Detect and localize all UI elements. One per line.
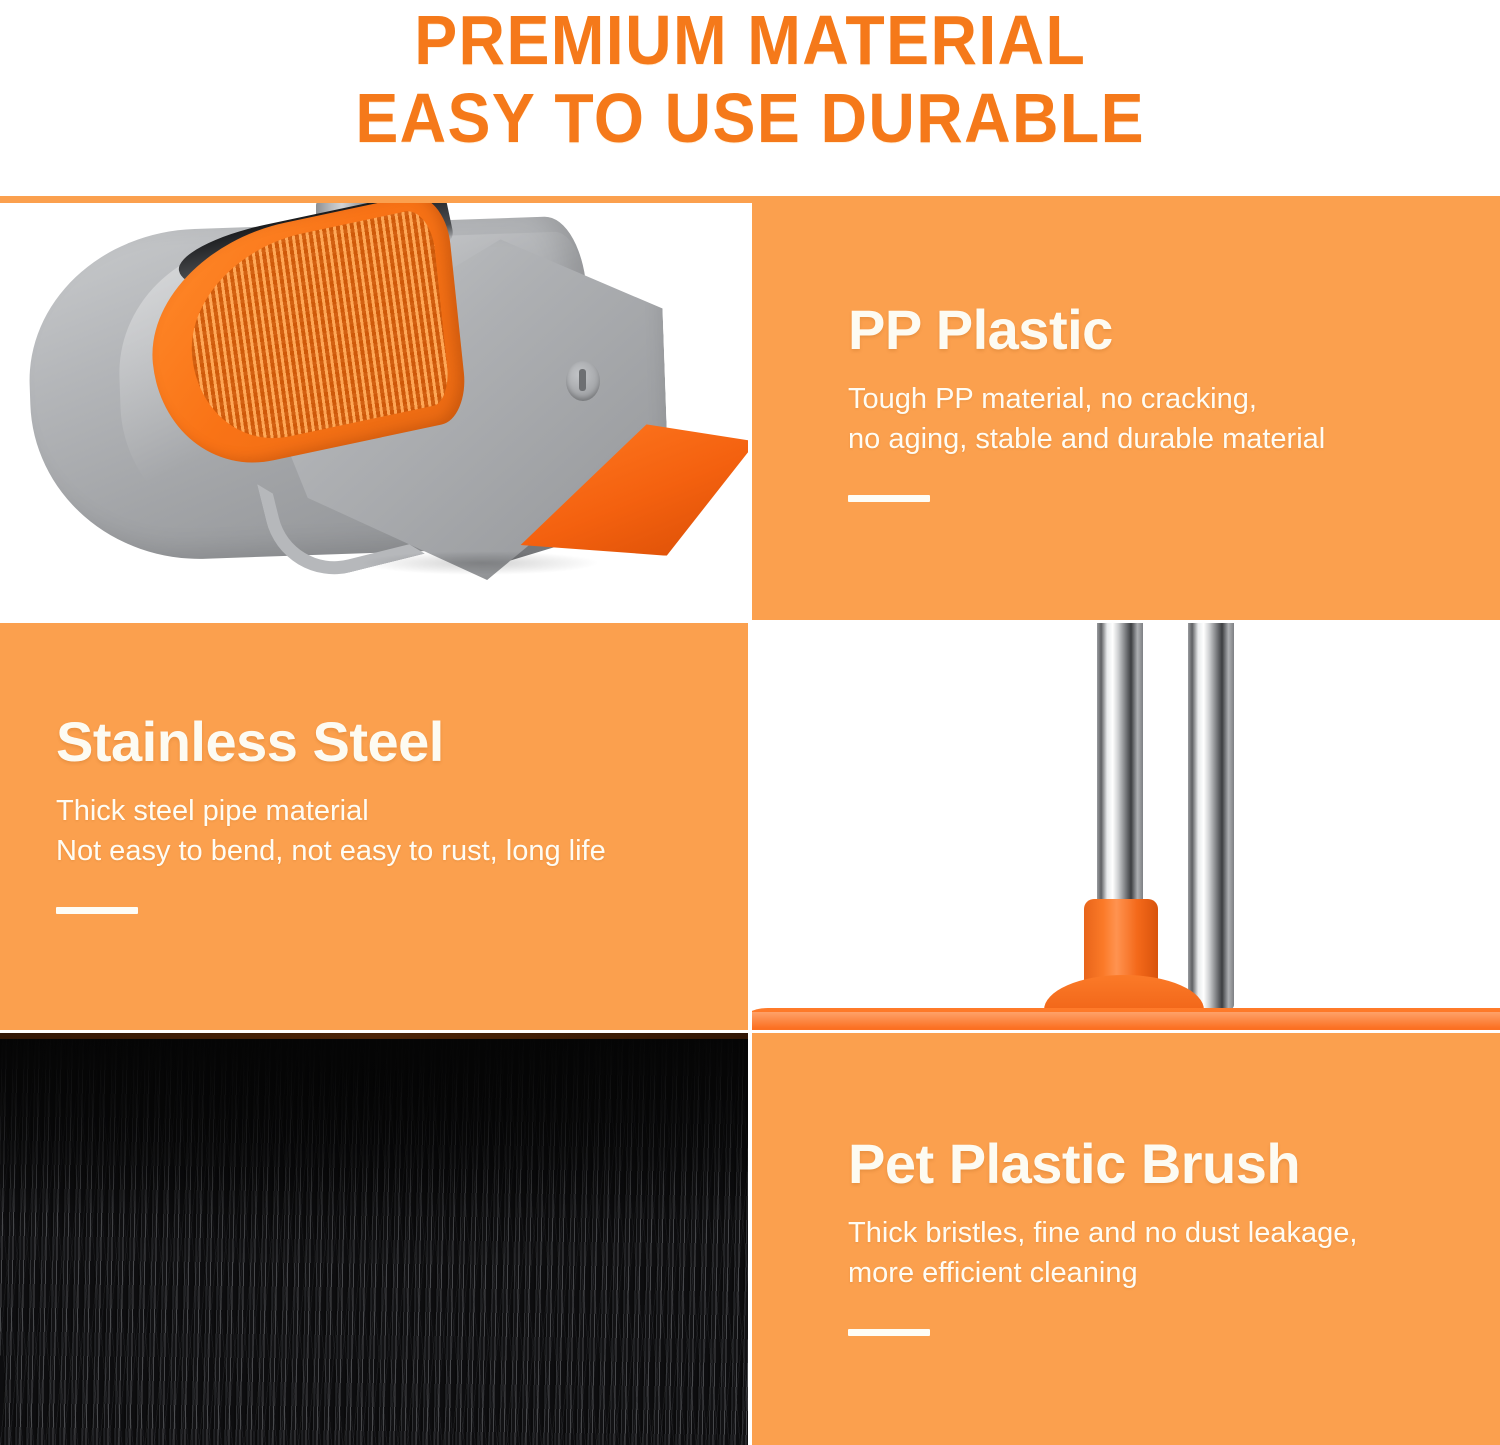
feature-grid: PP Plastic Tough PP material, no crackin… <box>0 203 1500 1442</box>
dustpan-latch-knob <box>566 361 600 401</box>
header-banner: PREMIUM MATERIAL EASY TO USE DURABLE <box>0 0 1500 197</box>
dustpan-drop-shadow <box>360 551 600 575</box>
stainless-steel-title: Stainless Steel <box>56 711 708 773</box>
stainless-steel-desc-line-2: Not easy to bend, not easy to rust, long… <box>56 831 708 871</box>
pp-plastic-title: PP Plastic <box>848 299 1460 361</box>
pet-plastic-brush-desc-line-2: more efficient cleaning <box>848 1253 1460 1293</box>
stainless-steel-panel: Stainless Steel Thick steel pipe materia… <box>0 623 748 1030</box>
bristles-top-tint <box>0 1033 748 1039</box>
header-title-line-2: EASY TO USE DURABLE <box>355 80 1145 156</box>
bristles-photo <box>0 1033 748 1445</box>
stainless-steel-description: Thick steel pipe material Not easy to be… <box>56 773 708 871</box>
dustpan-photo-cell <box>0 203 748 620</box>
pet-plastic-brush-desc-line-1: Thick bristles, fine and no dust leakage… <box>848 1213 1460 1253</box>
pp-plastic-desc-line-1: Tough PP material, no cracking, <box>848 379 1460 419</box>
bristles-photo-cell <box>0 1033 748 1445</box>
broom-head <box>752 1008 1500 1030</box>
pp-plastic-panel: PP Plastic Tough PP material, no crackin… <box>752 203 1500 620</box>
stainless-steel-desc-line-1: Thick steel pipe material <box>56 791 708 831</box>
dustpan-photo <box>0 203 748 620</box>
bristles-top-shadow <box>0 1033 748 1213</box>
pet-plastic-brush-panel: Pet Plastic Brush Thick bristles, fine a… <box>752 1033 1500 1445</box>
stainless-steel-content: Stainless Steel Thick steel pipe materia… <box>56 711 708 914</box>
steel-pole-left <box>1097 623 1143 905</box>
header-divider-rule <box>0 196 1500 203</box>
header-title-line-1: PREMIUM MATERIAL <box>414 2 1086 78</box>
pp-plastic-content: PP Plastic Tough PP material, no crackin… <box>848 299 1460 502</box>
stainless-steel-accent-dash <box>56 907 138 914</box>
pp-plastic-description: Tough PP material, no cracking, no aging… <box>848 361 1460 459</box>
broom-pole-photo-cell <box>752 623 1500 1030</box>
steel-pole-right <box>1188 623 1234 1009</box>
pet-plastic-brush-title: Pet Plastic Brush <box>848 1133 1460 1195</box>
pet-plastic-brush-content: Pet Plastic Brush Thick bristles, fine a… <box>848 1133 1460 1336</box>
pet-plastic-brush-accent-dash <box>848 1329 930 1336</box>
pp-plastic-desc-line-2: no aging, stable and durable material <box>848 419 1460 459</box>
pp-plastic-accent-dash <box>848 495 930 502</box>
broom-pole-photo <box>752 623 1500 1030</box>
infographic-page: PREMIUM MATERIAL EASY TO USE DURABLE <box>0 0 1500 1442</box>
pet-plastic-brush-description: Thick bristles, fine and no dust leakage… <box>848 1195 1460 1293</box>
